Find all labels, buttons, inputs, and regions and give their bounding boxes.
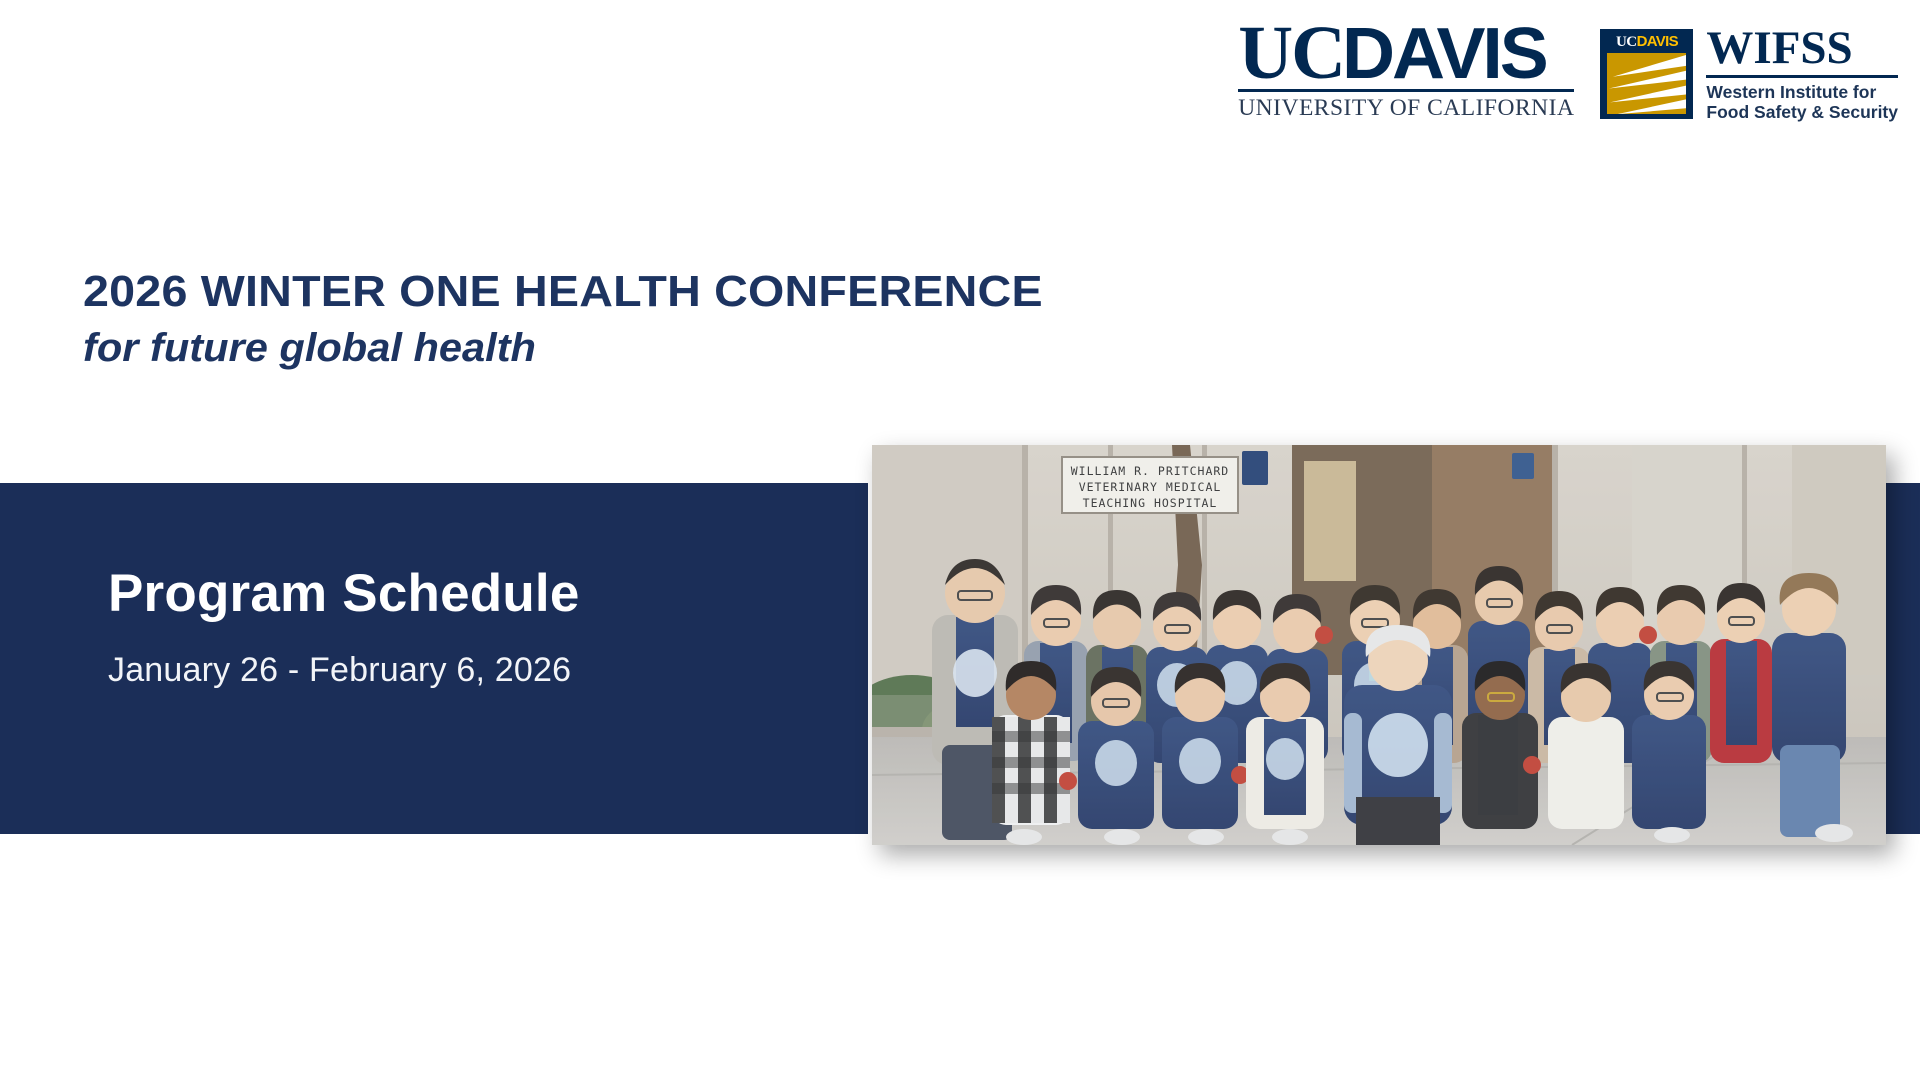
navy-band-right: [1884, 483, 1920, 834]
wifss-text-block: WIFSS Western Institute for Food Safety …: [1706, 26, 1898, 122]
wifss-mark-davis-text: DAVIS: [1637, 33, 1678, 50]
program-schedule-heading: Program Schedule: [108, 565, 580, 623]
logo-bar: UC DAVIS UNIVERSITY OF CALIFORNIA UCDAVI…: [1238, 22, 1898, 122]
wifss-mark-uc-text: UC: [1616, 34, 1637, 50]
headline-block: 2026 WINTER ONE HEALTH CONFERENCE for fu…: [83, 268, 988, 372]
conference-title: 2026 WINTER ONE HEALTH CONFERENCE: [83, 268, 1043, 316]
wifss-rays-icon: [1607, 53, 1686, 113]
ucdavis-subtitle: UNIVERSITY OF CALIFORNIA: [1238, 95, 1574, 122]
slide-canvas: UC DAVIS UNIVERSITY OF CALIFORNIA UCDAVI…: [0, 0, 1920, 1080]
wifss-tagline-line1: Western Institute for: [1706, 82, 1898, 102]
conference-subtitle: for future global health: [83, 324, 1025, 372]
conference-dates: January 26 - February 6, 2026: [108, 651, 580, 690]
wifss-mark-wordmark: UCDAVIS: [1600, 34, 1693, 50]
ucdavis-wordmark: UC DAVIS: [1238, 22, 1574, 84]
band-text-block: Program Schedule January 26 - February 6…: [108, 565, 580, 690]
wifss-divider-rule: [1706, 75, 1898, 78]
wifss-logo: UCDAVIS WIFSS Western Institute for Foo: [1600, 22, 1898, 122]
group-photo: WILLIAM R. PRITCHARD VETERINARY MEDICAL …: [872, 445, 1886, 845]
wifss-tagline-line2: Food Safety & Security: [1706, 102, 1898, 122]
ucdavis-uc-text: UC: [1238, 22, 1344, 84]
wifss-acronym: WIFSS: [1706, 26, 1898, 71]
wifss-mark-icon: UCDAVIS: [1600, 29, 1693, 119]
ucdavis-logo: UC DAVIS UNIVERSITY OF CALIFORNIA: [1238, 22, 1574, 122]
ucdavis-davis-text: DAVIS: [1342, 25, 1546, 84]
